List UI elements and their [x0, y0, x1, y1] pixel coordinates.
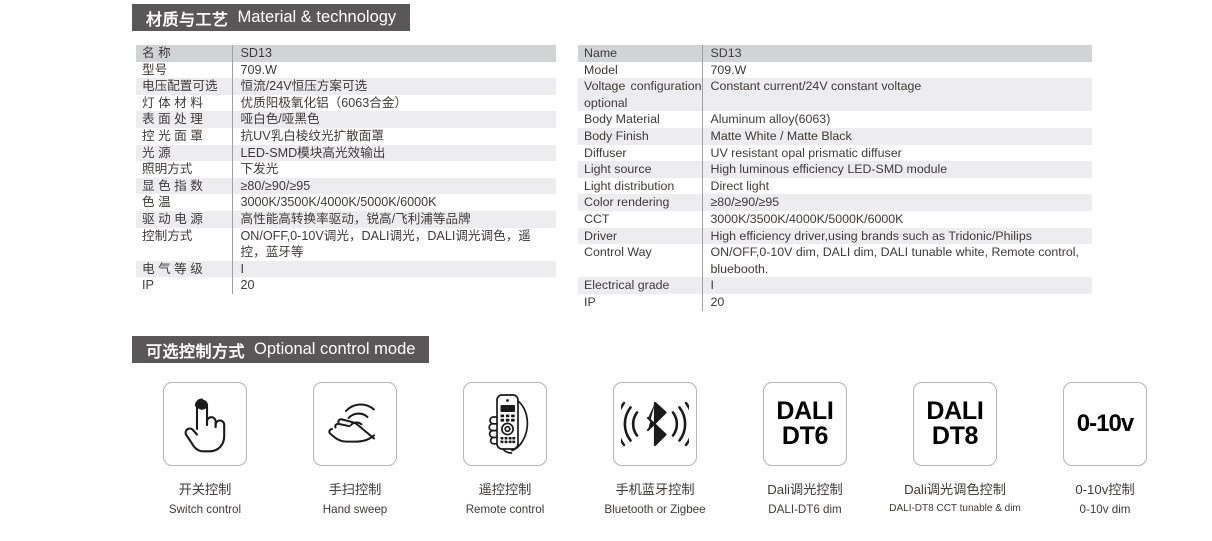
control-mode-switch[interactable]: 开关控制 Switch control [130, 382, 280, 516]
spec-value: 优质阳极氧化铝（6063合金） [232, 95, 556, 112]
spec-label: Diffuser [578, 145, 702, 162]
spec-label: 光 源 [136, 145, 232, 162]
table-row: Light distribution Direct light [578, 178, 1092, 195]
spec-value: ON/OFF,0-10V dim, DALI dim, DALI tunable… [702, 244, 1092, 277]
table-row: 驱 动 电 源 高性能高转换率驱动，锐高/飞利浦等品牌 [136, 211, 556, 228]
spec-label: 照明方式 [136, 161, 232, 178]
spec-table-english-body: Name SD13 Model 709.W Voltage configurat… [578, 45, 1092, 311]
spec-label: 控制方式 [136, 228, 232, 261]
spec-label: IP [578, 294, 702, 311]
spec-label: Model [578, 62, 702, 79]
spec-value: 709.W [702, 62, 1092, 79]
dali-dt8-text-icon: DALI DT8 [926, 399, 983, 450]
spec-value: Matte White / Matte Black [702, 128, 1092, 145]
spec-label: Color rendering [578, 194, 702, 211]
control-mode-text: 手机蓝牙控制 Bluetooth or Zigbee [580, 466, 730, 516]
spec-value: Direct light [702, 178, 1092, 195]
spec-table-chinese: 名 称 SD13 型号 709.W 电压配置可选 恒流/24V恒压方案可选 灯 … [136, 45, 556, 294]
control-mode-label-en: Hand sweep [280, 503, 430, 516]
control-mode-0-10v[interactable]: 0-10v 0-10v控制 0-10v dim [1030, 382, 1180, 516]
table-row: 灯 体 材 料 优质阳极氧化铝（6063合金） [136, 95, 556, 112]
spec-value: I [702, 277, 1092, 294]
spec-label: Light distribution [578, 178, 702, 195]
control-mode-label-en: Bluetooth or Zigbee [580, 503, 730, 516]
table-row: CCT 3000K/3500K/4000K/5000K/6000K [578, 211, 1092, 228]
table-row: IP 20 [578, 294, 1092, 311]
table-row: Body Material Aluminum alloy(6063) [578, 111, 1092, 128]
spec-value: LED-SMD模块高光效输出 [232, 145, 556, 162]
section-header-control: 可选控制方式 Optional control mode [132, 336, 429, 363]
control-mode-icon-box[interactable] [313, 382, 397, 466]
table-row: Control Way ON/OFF,0-10V dim, DALI dim, … [578, 244, 1092, 277]
spec-value: 3000K/3500K/4000K/5000K/6000K [702, 211, 1092, 228]
section-header-material-en: Material & technology [238, 8, 397, 27]
control-mode-bluetooth[interactable]: 手机蓝牙控制 Bluetooth or Zigbee [580, 382, 730, 516]
control-mode-hand-sweep[interactable]: 手扫控制 Hand sweep [280, 382, 430, 516]
table-row: 控 光 面 罩 抗UV乳白棱纹光扩散面罩 [136, 128, 556, 145]
control-mode-label-en: Switch control [130, 503, 280, 516]
control-mode-icon-box[interactable] [163, 382, 247, 466]
spec-label: 显 色 指 数 [136, 178, 232, 195]
table-row: Name SD13 [578, 45, 1092, 62]
spec-value: High luminous efficiency LED-SMD module [702, 161, 1092, 178]
table-row: 显 色 指 数 ≥80/≥90/≥95 [136, 178, 556, 195]
control-mode-icon-box[interactable]: 0-10v [1063, 382, 1147, 466]
spec-value: I [232, 261, 556, 278]
dali-dt6-line1: DALI [776, 399, 833, 425]
spec-label: 表 面 处 理 [136, 111, 232, 128]
control-mode-text: 遥控控制 Remote control [430, 466, 580, 516]
table-row: 名 称 SD13 [136, 45, 556, 62]
table-row: 型号 709.W [136, 62, 556, 79]
dali-dt8-line2: DT8 [926, 424, 983, 450]
table-row: 光 源 LED-SMD模块高光效输出 [136, 145, 556, 162]
dali-dt8-line1: DALI [926, 399, 983, 425]
spec-label: 电 气 等 级 [136, 261, 232, 278]
control-mode-label-cn: Dali调光控制 [730, 479, 880, 498]
spec-label: 灯 体 材 料 [136, 95, 232, 112]
spec-label: IP [136, 277, 232, 294]
spec-label: Electrical grade [578, 277, 702, 294]
control-mode-label-cn: 开关控制 [130, 479, 280, 498]
table-row: Electrical grade I [578, 277, 1092, 294]
spec-label: 控 光 面 罩 [136, 128, 232, 145]
section-header-material: 材质与工艺 Material & technology [132, 4, 410, 31]
spec-value: ≥80/≥90/≥95 [232, 178, 556, 195]
spec-value: 709.W [232, 62, 556, 79]
control-mode-label-cn: 手机蓝牙控制 [580, 479, 730, 498]
dali-dt6-line2: DT6 [776, 424, 833, 450]
table-row: 照明方式 下发光 [136, 161, 556, 178]
spec-value: 哑白色/哑黑色 [232, 111, 556, 128]
hand-sweep-icon [326, 398, 384, 450]
dali-dt6-text-icon: DALI DT6 [776, 399, 833, 450]
spec-label: Light source [578, 161, 702, 178]
table-row: 电 气 等 级 I [136, 261, 556, 278]
remote-control-icon [478, 392, 532, 456]
table-row: 表 面 处 理 哑白色/哑黑色 [136, 111, 556, 128]
spec-value: Constant current/24V constant voltage [702, 78, 1092, 111]
spec-value: 20 [232, 277, 556, 294]
hand-press-icon [180, 395, 230, 453]
control-mode-label-en: 0-10v dim [1030, 503, 1180, 516]
control-mode-dali-dt6[interactable]: DALI DT6 Dali调光控制 DALI-DT6 dim [730, 382, 880, 516]
spec-value: 高性能高转换率驱动，锐高/飞利浦等品牌 [232, 211, 556, 228]
control-mode-label-cn: 遥控控制 [430, 479, 580, 498]
zero-to-ten-volt-text-icon: 0-10v [1077, 410, 1133, 438]
table-row: 电压配置可选 恒流/24V恒压方案可选 [136, 78, 556, 95]
control-mode-label-cn: 手扫控制 [280, 479, 430, 498]
section-header-control-cn: 可选控制方式 [146, 338, 245, 362]
control-mode-icon-box[interactable] [463, 382, 547, 466]
table-row: Diffuser UV resistant opal prismatic dif… [578, 145, 1092, 162]
spec-label: 型号 [136, 62, 232, 79]
spec-label: Control Way [578, 244, 702, 277]
spec-value: 下发光 [232, 161, 556, 178]
spec-label: Body Finish [578, 128, 702, 145]
control-mode-label-cn: Dali调光调色控制 [880, 479, 1030, 498]
control-mode-text: 开关控制 Switch control [130, 466, 280, 516]
spec-label: 电压配置可选 [136, 78, 232, 95]
spec-table-chinese-body: 名 称 SD13 型号 709.W 电压配置可选 恒流/24V恒压方案可选 灯 … [136, 45, 556, 294]
spec-label: Voltage configuration optional [578, 78, 702, 111]
spec-value: SD13 [702, 45, 1092, 62]
spec-table-english: Name SD13 Model 709.W Voltage configurat… [578, 45, 1092, 311]
spec-value: 恒流/24V恒压方案可选 [232, 78, 556, 95]
spec-value: ≥80/≥90/≥95 [702, 194, 1092, 211]
section-header-control-en: Optional control mode [254, 340, 415, 359]
section-header-material-cn: 材质与工艺 [146, 6, 229, 30]
control-mode-row: 开关控制 Switch control 手扫控制 Hand sweep [130, 382, 1190, 532]
table-row: Driver High efficiency driver,using bran… [578, 228, 1092, 245]
table-row: Body Finish Matte White / Matte Black [578, 128, 1092, 145]
spec-label: CCT [578, 211, 702, 228]
spec-label: Driver [578, 228, 702, 245]
spec-label: 名 称 [136, 45, 232, 62]
control-mode-dali-dt8[interactable]: DALI DT8 Dali调光调色控制 DALI-DT8 CCT tunable… [880, 382, 1030, 514]
control-mode-label-en: Remote control [430, 503, 580, 516]
table-row: 控制方式 ON/OFF,0-10V调光，DALI调光，DALI调光调色，遥控，蓝… [136, 228, 556, 261]
spec-label: 色 温 [136, 194, 232, 211]
control-mode-label-en: DALI-DT6 dim [730, 503, 880, 516]
control-mode-icon-box[interactable]: DALI DT8 [913, 382, 997, 466]
spec-value: 抗UV乳白棱纹光扩散面罩 [232, 128, 556, 145]
table-row: IP 20 [136, 277, 556, 294]
spec-label: 驱 动 电 源 [136, 211, 232, 228]
control-mode-text: 0-10v控制 0-10v dim [1030, 466, 1180, 516]
control-mode-text: Dali调光调色控制 DALI-DT8 CCT tunable & dim [880, 466, 1030, 514]
table-row: Light source High luminous efficiency LE… [578, 161, 1092, 178]
control-mode-text: Dali调光控制 DALI-DT6 dim [730, 466, 880, 516]
table-row: 色 温 3000K/3500K/4000K/5000K/6000K [136, 194, 556, 211]
spec-value: SD13 [232, 45, 556, 62]
spec-value: ON/OFF,0-10V调光，DALI调光，DALI调光调色，遥控，蓝牙等 [232, 228, 556, 261]
spec-value: 20 [702, 294, 1092, 311]
control-mode-remote[interactable]: 遥控控制 Remote control [430, 382, 580, 516]
spec-value: 3000K/3500K/4000K/5000K/6000K [232, 194, 556, 211]
table-row: Model 709.W [578, 62, 1092, 79]
spec-value: UV resistant opal prismatic diffuser [702, 145, 1092, 162]
control-mode-text: 手扫控制 Hand sweep [280, 466, 430, 516]
spec-label: Body Material [578, 111, 702, 128]
control-mode-icon-box[interactable] [613, 382, 697, 466]
table-row: Voltage configuration optional Constant … [578, 78, 1092, 111]
table-row: Color rendering ≥80/≥90/≥95 [578, 194, 1092, 211]
spec-value: Aluminum alloy(6063) [702, 111, 1092, 128]
control-mode-label-cn: 0-10v控制 [1030, 479, 1180, 498]
bluetooth-icon [621, 399, 689, 449]
spec-label: Name [578, 45, 702, 62]
spec-value: High efficiency driver,using brands such… [702, 228, 1092, 245]
control-mode-label-en: DALI-DT8 CCT tunable & dim [880, 503, 1030, 514]
control-mode-icon-box[interactable]: DALI DT6 [763, 382, 847, 466]
